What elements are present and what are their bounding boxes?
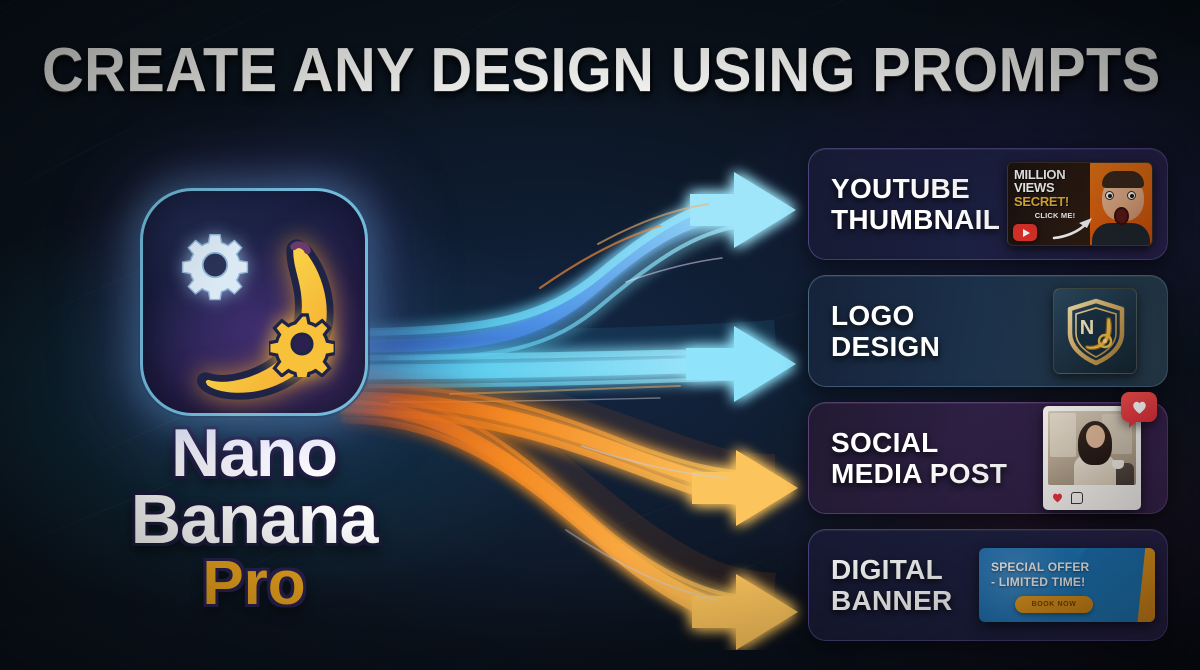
- flow-arrows-graphic: [330, 110, 830, 650]
- youtube-play-icon: [1013, 224, 1037, 241]
- heart-icon: [1130, 398, 1149, 416]
- brand-line-3-pro: Pro: [104, 555, 404, 614]
- heart-icon[interactable]: [1051, 491, 1064, 504]
- card-label-line1: YOUTUBE: [831, 173, 1000, 204]
- thumbnail-person-pupil-left: [1108, 194, 1112, 198]
- banner-text: SPECIAL OFFER - LIMITED TIME! BOOK NOW: [979, 548, 1155, 613]
- logo-tile: N: [1053, 288, 1137, 374]
- shield-icon: N: [1054, 289, 1138, 375]
- like-notification-badge: [1121, 392, 1157, 422]
- web-banner-preview: SPECIAL OFFER - LIMITED TIME! BOOK NOW: [991, 548, 1167, 622]
- card-label-line2: MEDIA POST: [831, 458, 1007, 489]
- brand-block: Nano Banana Pro: [104, 188, 404, 614]
- banner-cta-button[interactable]: BOOK NOW: [1015, 596, 1093, 613]
- instagram-post-preview: [1069, 406, 1167, 510]
- thumbnail-person-hair: [1102, 171, 1144, 188]
- photo-window-left: [1050, 413, 1076, 457]
- page-title: CREATE ANY DESIGN USING PROMPTS: [42, 40, 1158, 102]
- card-label: YOUTUBE THUMBNAIL: [831, 173, 1000, 236]
- brand-line-2: Banana: [104, 487, 404, 551]
- brand-line-1: Nano: [104, 422, 404, 485]
- nano-banana-pro-app-icon[interactable]: [140, 188, 368, 416]
- social-post-photo: [1048, 411, 1136, 485]
- gear-icon-gold: [269, 311, 335, 377]
- comment-icon[interactable]: [1071, 492, 1083, 504]
- photo-person-face: [1086, 425, 1105, 448]
- thumbnail-line-2: VIEWS: [1014, 181, 1096, 194]
- banner-image: SPECIAL OFFER - LIMITED TIME! BOOK NOW: [979, 548, 1155, 622]
- output-card-social-media-post[interactable]: SOCIAL MEDIA POST: [808, 402, 1168, 514]
- thumbnail-person-body: [1092, 223, 1150, 245]
- social-post-frame: [1043, 406, 1141, 510]
- card-label-line2: DESIGN: [831, 331, 940, 362]
- card-label-line1: DIGITAL: [831, 554, 953, 585]
- thumbnail-person-pupil-right: [1130, 194, 1134, 198]
- output-card-logo-design[interactable]: LOGO DESIGN: [808, 275, 1168, 387]
- thumbnail-image: MILLION VIEWS SECRET! CLICK ME!: [1007, 162, 1153, 246]
- thumbnail-line-3: SECRET!: [1014, 195, 1096, 208]
- banner-line-1: SPECIAL OFFER: [991, 560, 1155, 575]
- photo-coffee-cup: [1112, 460, 1124, 469]
- banner-line-2: - LIMITED TIME!: [991, 575, 1155, 590]
- card-label-line2: BANNER: [831, 585, 953, 616]
- thumbnail-line-1: MILLION: [1014, 168, 1096, 181]
- poster-canvas: CREATE ANY DESIGN USING PROMPTS: [0, 0, 1200, 670]
- curved-arrow-icon: [1052, 215, 1094, 241]
- brand-wordmark: Nano Banana Pro: [104, 422, 404, 614]
- thumbnail-text: MILLION VIEWS SECRET! CLICK ME!: [1014, 168, 1096, 220]
- output-card-digital-banner[interactable]: DIGITAL BANNER SPECIAL OFFER - LIMITED T…: [808, 529, 1168, 641]
- card-label-line2: THUMBNAIL: [831, 204, 1000, 235]
- card-label-line1: LOGO: [831, 300, 940, 331]
- shield-letter: N: [1080, 317, 1094, 339]
- card-label-line1: SOCIAL: [831, 427, 1007, 458]
- thumbnail-person-mouth: [1114, 207, 1129, 225]
- social-post-actions: [1048, 485, 1136, 504]
- card-label: SOCIAL MEDIA POST: [831, 427, 1007, 490]
- youtube-thumbnail-preview: MILLION VIEWS SECRET! CLICK ME!: [1021, 162, 1167, 246]
- output-card-youtube-thumbnail[interactable]: YOUTUBE THUMBNAIL MILLION VIEWS SECRET! …: [808, 148, 1168, 260]
- card-label: DIGITAL BANNER: [831, 554, 953, 617]
- card-label: LOGO DESIGN: [831, 300, 940, 363]
- shield-logo-preview: N: [1083, 288, 1167, 374]
